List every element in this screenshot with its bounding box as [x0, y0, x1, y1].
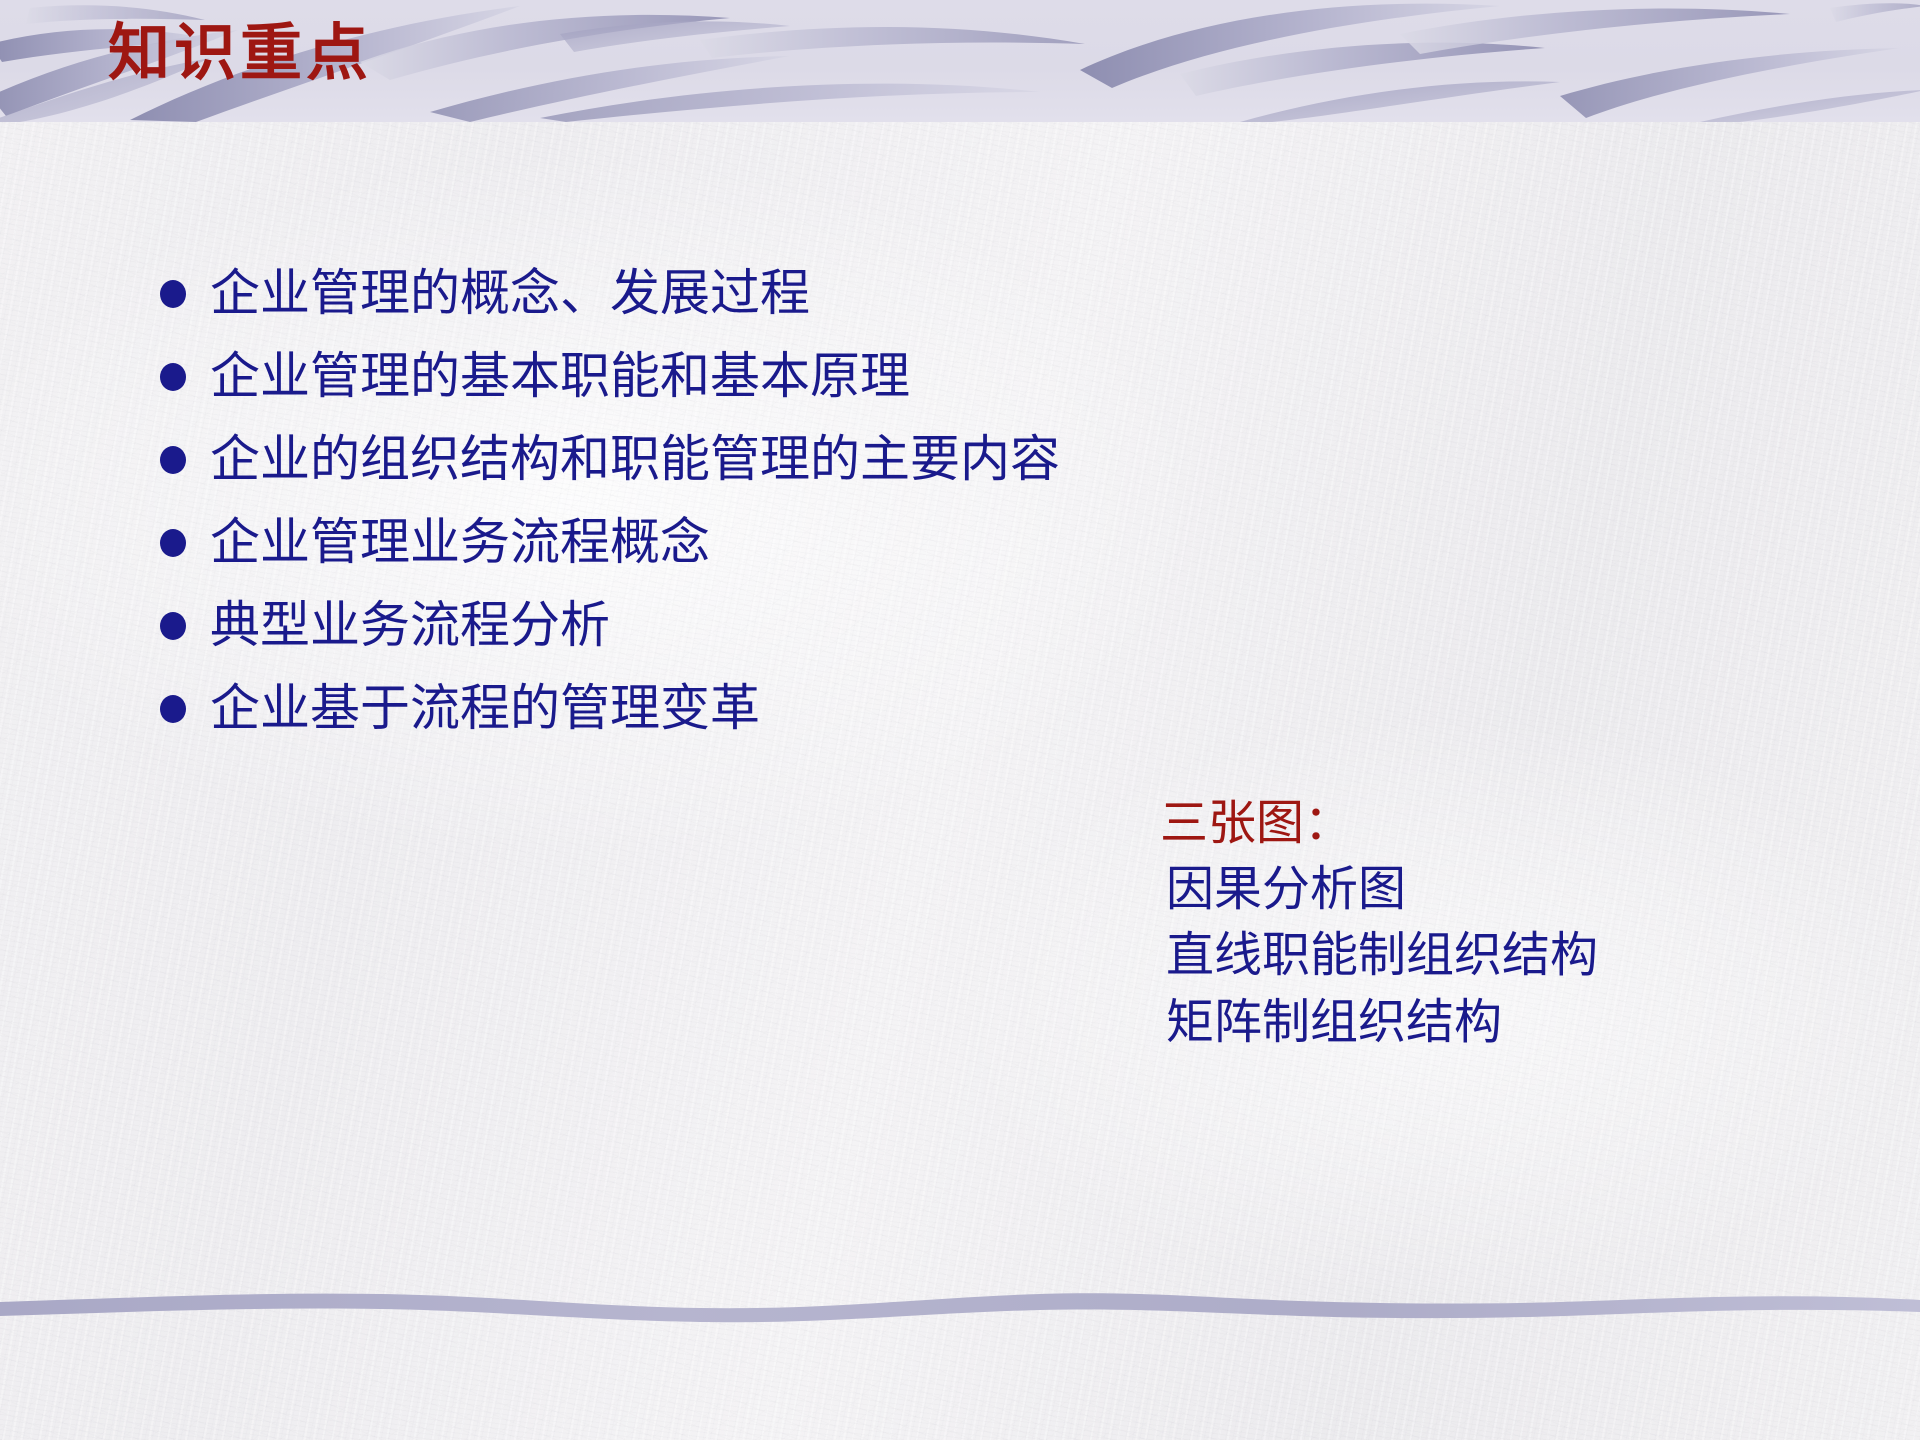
bullet-dot-icon: [160, 529, 186, 557]
list-item-label: 企业管理业务流程概念: [210, 516, 710, 569]
bullet-list: 企业管理的概念、发展过程 企业管理的基本职能和基本原理 企业的组织结构和职能管理…: [160, 252, 1220, 750]
list-item-label: 典型业务流程分析: [210, 599, 610, 652]
list-item-label: 企业的组织结构和职能管理的主要内容: [210, 433, 1060, 486]
three-diagrams-item: 矩阵制组织结构: [1160, 989, 1860, 1055]
three-diagrams-block: 三张图： 因果分析图 直线职能制组织结构 矩阵制组织结构: [1160, 790, 1860, 1055]
three-diagrams-item: 因果分析图: [1160, 856, 1860, 922]
list-item[interactable]: 典型业务流程分析: [160, 584, 1220, 667]
bullet-dot-icon: [160, 280, 186, 308]
list-item-label: 企业基于流程的管理变革: [210, 682, 760, 735]
bullet-dot-icon: [160, 446, 186, 474]
slide-canvas: 知识重点 企业管理的概念、发展过程 企业管理的基本职能和基本原理 企业的组织结构…: [0, 0, 1920, 1440]
list-item[interactable]: 企业管理的基本职能和基本原理: [160, 335, 1220, 418]
three-diagrams-item: 直线职能制组织结构: [1160, 922, 1860, 988]
list-item[interactable]: 企业管理业务流程概念: [160, 501, 1220, 584]
wavy-divider-line: [0, 1268, 1920, 1348]
list-item[interactable]: 企业管理的概念、发展过程: [160, 252, 1220, 335]
list-item-label: 企业管理的概念、发展过程: [210, 267, 810, 320]
bullet-dot-icon: [160, 695, 186, 723]
page-title: 知识重点: [108, 22, 372, 84]
bullet-dot-icon: [160, 363, 186, 391]
list-item[interactable]: 企业的组织结构和职能管理的主要内容: [160, 418, 1220, 501]
header-band: 知识重点: [0, 0, 1920, 122]
list-item[interactable]: 企业基于流程的管理变革: [160, 667, 1220, 750]
three-diagrams-heading: 三张图：: [1160, 790, 1860, 856]
list-item-label: 企业管理的基本职能和基本原理: [210, 350, 910, 403]
bullet-dot-icon: [160, 612, 186, 640]
